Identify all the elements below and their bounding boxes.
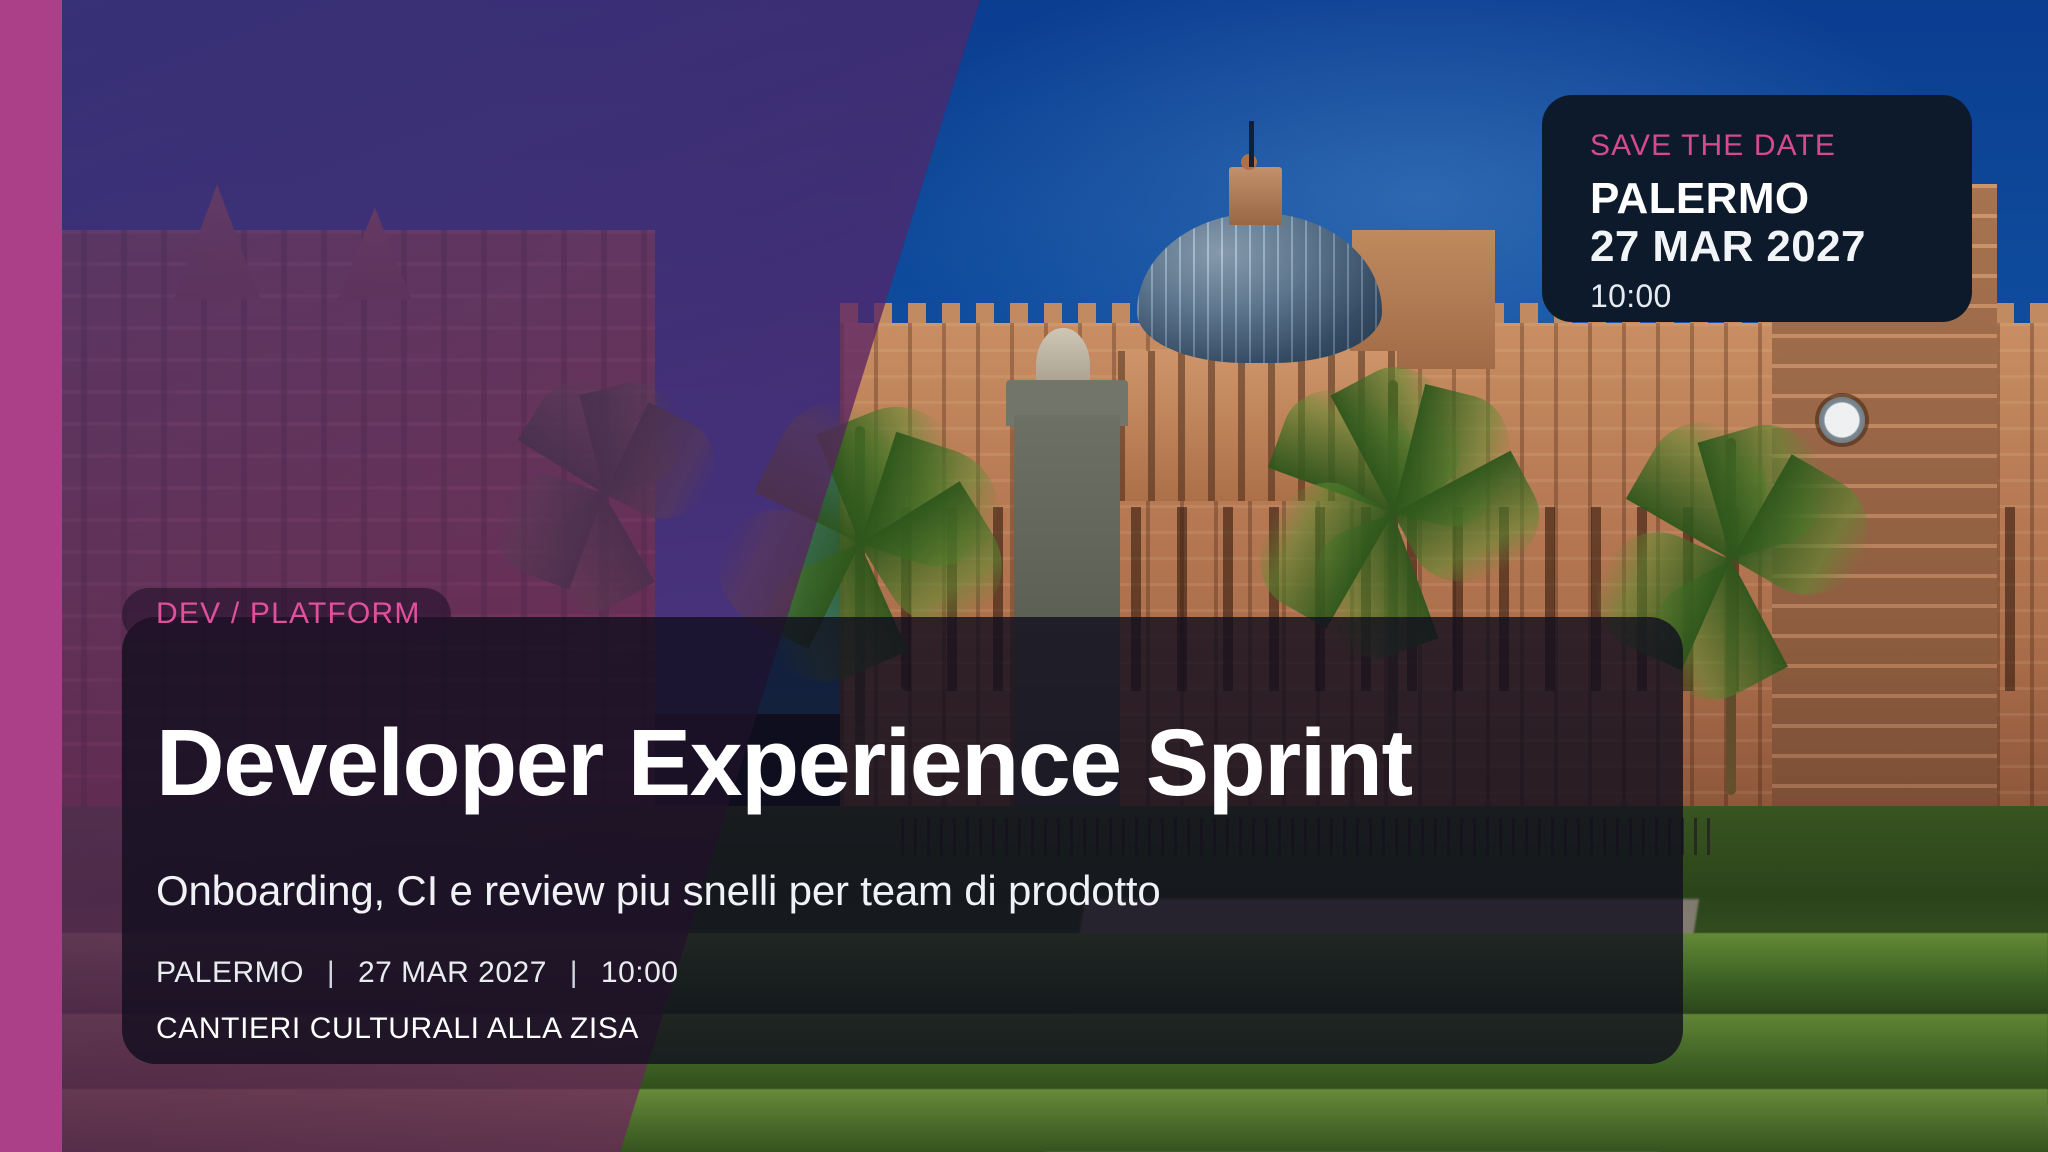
meta-date: 27 MAR 2027	[358, 956, 547, 989]
save-the-date-badge: SAVE THE DATE PALERMO 27 MAR 2027 10:00	[1542, 95, 1972, 322]
event-poster: SAVE THE DATE PALERMO 27 MAR 2027 10:00 …	[0, 0, 2048, 1152]
badge-time: 10:00	[1590, 279, 1972, 314]
page-title: Developer Experience Sprint	[122, 715, 1683, 812]
poster-subtitle: Onboarding, CI e review piu snelli per t…	[122, 866, 1683, 916]
left-accent-bar	[0, 0, 62, 1152]
meta-separator: |	[556, 958, 592, 988]
meta-city: PALERMO	[156, 956, 304, 989]
meta-separator: |	[313, 958, 349, 988]
venue-name: CANTIERI CULTURALI ALLA ZISA	[122, 1014, 1683, 1044]
badge-kicker: SAVE THE DATE	[1590, 129, 1972, 162]
badge-date: 27 MAR 2027	[1590, 223, 1972, 271]
category-tag: DEV / PLATFORM	[122, 588, 451, 642]
event-meta-line: PALERMO | 27 MAR 2027 | 10:00	[122, 958, 1683, 988]
poster-content: DEV / PLATFORM Developer Experience Spri…	[122, 617, 1683, 1044]
meta-time: 10:00	[601, 956, 679, 989]
badge-city: PALERMO	[1590, 176, 1972, 223]
